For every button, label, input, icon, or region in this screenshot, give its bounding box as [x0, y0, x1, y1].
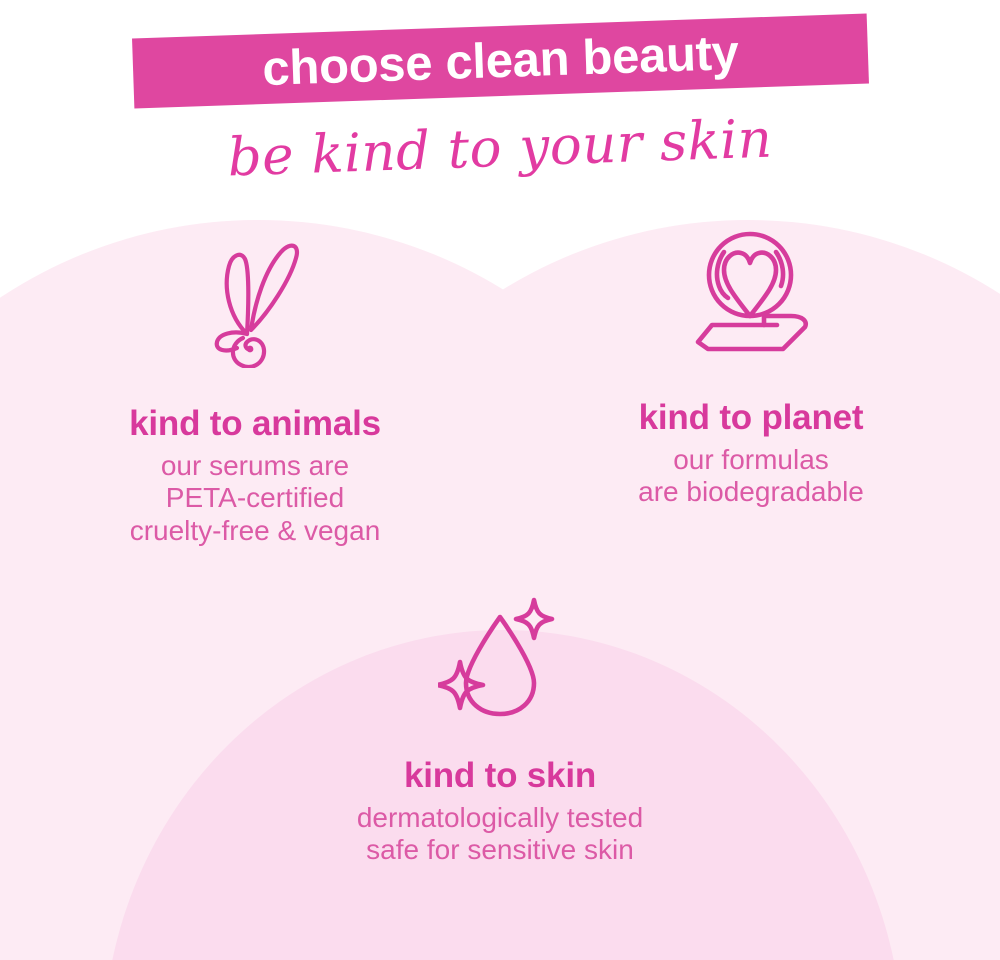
- feature-body-line: PETA-certified: [22, 482, 488, 514]
- feature-body-line: dermatologically tested: [267, 802, 733, 834]
- feature-body-line: our serums are: [22, 450, 488, 482]
- feature-title-planet: kind to planet: [518, 398, 984, 438]
- globe-in-hand-icon: [684, 226, 818, 356]
- feature-block-planet: kind to planet our formulas are biodegra…: [518, 226, 984, 509]
- clean-beauty-poster: choose clean beauty be kind to your skin…: [0, 0, 1000, 960]
- feature-title-skin: kind to skin: [267, 756, 733, 796]
- feature-body-line: safe for sensitive skin: [267, 834, 733, 866]
- header-banner: choose clean beauty: [133, 16, 868, 112]
- butterfly-icon: [203, 238, 307, 368]
- feature-body-skin: dermatologically tested safe for sensiti…: [267, 802, 733, 867]
- feature-title-animals: kind to animals: [22, 404, 488, 444]
- feature-block-skin: kind to skin dermatologically tested saf…: [267, 592, 733, 867]
- feature-block-animals: kind to animals our serums are PETA-cert…: [22, 238, 488, 547]
- banner-title: choose clean beauty: [132, 14, 869, 109]
- feature-body-animals: our serums are PETA-certified cruelty-fr…: [22, 450, 488, 547]
- feature-body-line: are biodegradable: [518, 476, 984, 508]
- feature-body-line: cruelty-free & vegan: [22, 515, 488, 547]
- feature-body-planet: our formulas are biodegradable: [518, 444, 984, 509]
- water-droplet-sparkle-icon: [438, 592, 562, 728]
- feature-body-line: our formulas: [518, 444, 984, 476]
